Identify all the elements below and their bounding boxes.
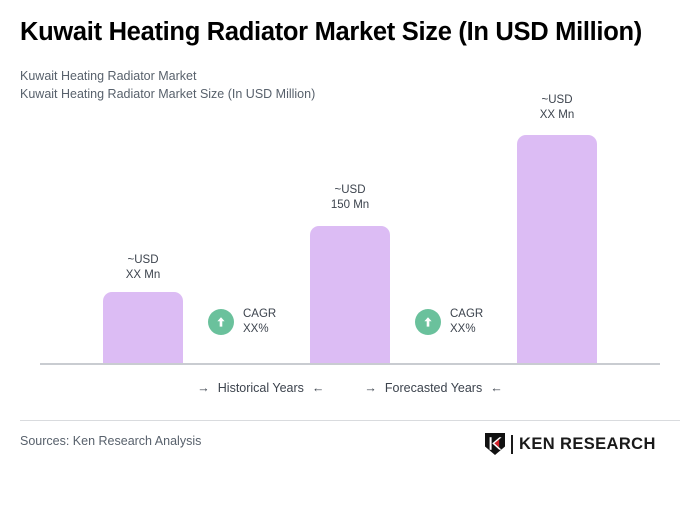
brand-wordmark: KEN RESEARCH [518, 436, 656, 453]
cagr-label-historical-line1: CAGR [243, 307, 276, 322]
ken-research-shield-icon [484, 432, 506, 456]
period-legend: → Historical Years ← → Forecasted Years … [40, 378, 660, 398]
logo-divider [511, 435, 513, 454]
bar-value-label-1: ~USD XX Mn [103, 253, 183, 282]
bar-chart-plot: ~USD XX Mn ~USD 150 Mn ~USD XX Mn CAGR X… [0, 0, 700, 380]
cagr-label-historical-line2: XX% [243, 322, 276, 337]
brand-wordmark-text: KEN RESEARCH [519, 436, 656, 453]
cagr-badge-historical: CAGR XX% [208, 307, 276, 336]
x-axis-line [40, 363, 660, 365]
bar-value-label-2-line2: 150 Mn [310, 198, 390, 213]
arrow-left-icon: ← [490, 382, 503, 395]
bar-forecast[interactable] [517, 135, 597, 363]
cagr-label-forecast: CAGR XX% [450, 307, 483, 336]
bar-value-label-3-line1: ~USD [517, 93, 597, 108]
arrow-left-icon: ← [312, 382, 325, 395]
bar-value-label-1-line1: ~USD [103, 253, 183, 268]
cagr-up-arrow-icon [208, 309, 234, 335]
footer-divider [20, 420, 680, 421]
period-legend-historical: → Historical Years ← [197, 381, 324, 395]
period-legend-forecasted: → Forecasted Years ← [364, 381, 502, 395]
bar-value-label-2-line1: ~USD [310, 183, 390, 198]
arrow-right-icon: → [197, 382, 210, 395]
chart-page: Kuwait Heating Radiator Market Size (In … [0, 0, 700, 520]
period-legend-historical-label: Historical Years [218, 381, 304, 395]
arrow-right-icon: → [364, 382, 377, 395]
bar-value-label-2: ~USD 150 Mn [310, 183, 390, 212]
sources-text: Sources: Ken Research Analysis [20, 434, 201, 448]
cagr-badge-forecast: CAGR XX% [415, 307, 483, 336]
bar-historical[interactable] [103, 292, 183, 363]
bar-value-label-1-line2: XX Mn [103, 268, 183, 283]
cagr-label-forecast-line1: CAGR [450, 307, 483, 322]
cagr-label-forecast-line2: XX% [450, 322, 483, 337]
ken-research-logo: KEN RESEARCH [484, 432, 656, 456]
bar-value-label-3: ~USD XX Mn [517, 93, 597, 122]
cagr-up-arrow-icon [415, 309, 441, 335]
cagr-label-historical: CAGR XX% [243, 307, 276, 336]
bar-value-label-3-line2: XX Mn [517, 108, 597, 123]
bar-base-year[interactable] [310, 226, 390, 363]
period-legend-forecasted-label: Forecasted Years [385, 381, 482, 395]
